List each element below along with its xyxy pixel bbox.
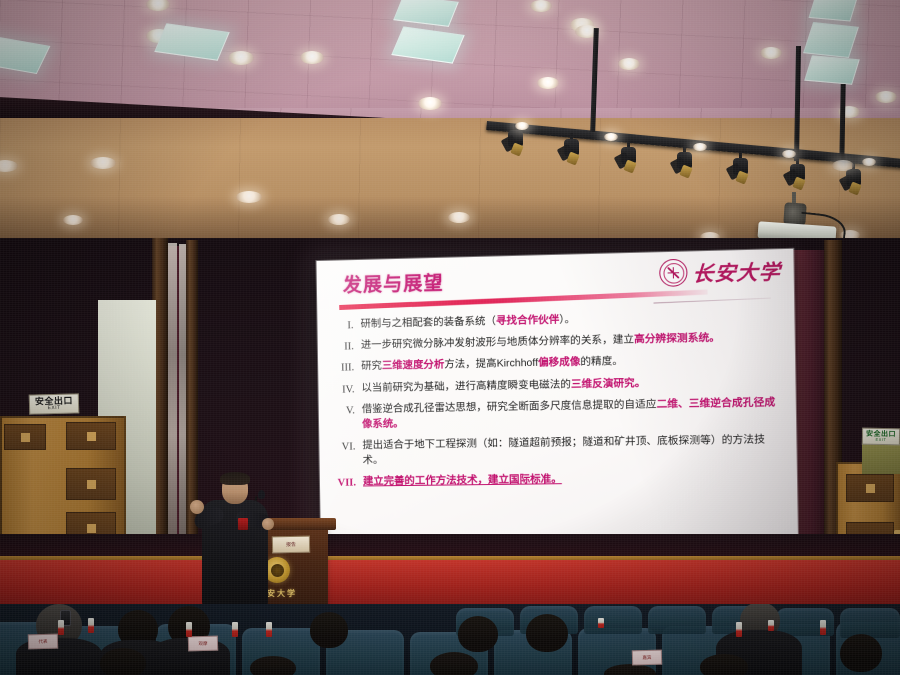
slide-bullet-item: V.借鉴逆合成孔径雷达思想，研究全断面多尺度信息提取的自适应二维、三维逆合成孔径… [335, 396, 782, 433]
name-card-text: 代表 [38, 638, 47, 644]
ceiling-downlight [875, 91, 897, 103]
slide-bullet-item: II.进一步研究微分脉冲发射波形与地质体分辨率的关系，建立高分辨探测系统。 [334, 331, 780, 355]
name-card-text: 观摩 [198, 640, 207, 646]
exit-sign-right-en: EXIT [875, 438, 886, 442]
wall-wash-light [832, 160, 854, 171]
door-panel [846, 474, 894, 502]
slide-bullet-text: 借鉴逆合成孔径雷达思想，研究全断面多尺度信息提取的自适应二维、三维逆合成孔径成像… [362, 396, 782, 433]
ceiling-downlight [537, 77, 559, 89]
slide-bullet-item: I.研制与之相配套的装备系统（寻找合作伙伴）。 [333, 309, 779, 334]
truss-lamp [862, 158, 876, 166]
ceiling-downlight [618, 58, 640, 70]
water-bottle [266, 622, 272, 637]
slide-bullet-item: IV.以当前研究为基础，进行高精度瞬变电磁法的三维反演研究。 [334, 374, 780, 397]
water-bottle [820, 620, 826, 635]
door-panel [66, 468, 116, 500]
audience-name-card: 嘉宾 [632, 650, 662, 666]
seat [840, 608, 900, 638]
slide-bullet-text: 研究三维速度分析方法，提高Kirchhoff偏移成像的精度。 [361, 352, 780, 375]
water-bottle [88, 618, 94, 633]
door-panel [66, 422, 116, 450]
wall-wash-light [328, 214, 350, 225]
wall-wash-light [448, 212, 470, 223]
stage-spotlight [843, 169, 865, 195]
glass-panel-strip [179, 244, 186, 562]
slide-bullet-number: VI. [335, 439, 356, 469]
stage-spotlight [561, 139, 583, 165]
slide-bullet-highlight: 高分辨探测系统。 [634, 333, 720, 346]
university-logo: 长安大学 [659, 255, 781, 288]
ceiling-downlight [530, 0, 552, 12]
slide-bullet-number: II. [334, 339, 354, 355]
slide-bullet-item: VII.建立完善的工作方法技术，建立国际标准。 [336, 470, 782, 491]
slide-title: 发展与展望 [343, 268, 444, 298]
projection-screen: 发展与展望 长安大学 I.研制与之相配套的装备系统（寻找合作伙伴）。II.进一步… [319, 261, 783, 581]
slide-bullet-number: I. [333, 318, 353, 334]
wall-wash-light [63, 215, 83, 225]
stage-spotlight [787, 164, 809, 190]
slide-bullet-plain: 研究 [361, 361, 382, 372]
audience-head [100, 648, 146, 675]
seat [648, 606, 706, 634]
ceiling-light-panel [804, 55, 860, 85]
water-bottle [598, 618, 604, 628]
ceiling-light-panel [808, 0, 857, 22]
slide-bullet-plain: 以当前研究为基础，进行高精度瞬变电磁法的 [361, 379, 571, 394]
slide-bullet-highlight: 三维反演研究。 [571, 378, 646, 391]
slide-bullet-highlight: 寻找合作伙伴 [496, 315, 559, 328]
audience-head [526, 614, 568, 652]
slide-bullet-number: IV. [334, 382, 354, 398]
slide-bullet-plain: 进一步研究微分脉冲发射波形与地质体分辨率的关系，建立 [361, 335, 634, 352]
truss-lamp [693, 143, 707, 151]
presenter-hair [220, 472, 250, 485]
slide-bullet-plain: 的精度。 [580, 357, 623, 369]
audience-head [250, 656, 296, 675]
exit-sign-left-en: EXIT [47, 406, 60, 411]
audience-area: 代表 观摩 嘉宾 [0, 604, 900, 675]
slide-bullet-text: 提出适合于地下工程探测（如：隧道超前预报；隧道和矿井顶、底板探测等）的方法技术。 [362, 433, 782, 469]
slide-bullet-number: VII. [336, 475, 356, 490]
title-underline-thin [654, 298, 771, 304]
slide-bullet-plain: 提出适合于地下工程探测（如：隧道超前预报；隧道和矿井顶、底板探测等）的方法技术。 [362, 434, 765, 466]
slide-bullet-highlight: 建立完善的工作方法技术，建立国际标准。 [363, 474, 562, 487]
slide-bullet-list: I.研制与之相配套的装备系统（寻找合作伙伴）。II.进一步研究微分脉冲发射波形与… [333, 309, 782, 497]
changan-university-emblem-icon [659, 259, 688, 287]
audience-head [430, 652, 478, 675]
podium-nameplate: 报告 [272, 536, 310, 554]
seat [584, 606, 642, 634]
conference-hall-photo: 安全出口 EXIT 安全出口 EXIT 发展与展望 长安大学 I.研制与之相配套… [0, 0, 900, 675]
slide-bullet-item: VI.提出适合于地下工程探测（如：隧道超前预报；隧道和矿井顶、底板探测等）的方法… [335, 433, 782, 469]
ceiling-downlight [228, 51, 254, 65]
slide-bullet-number: V. [335, 403, 356, 433]
water-bottle [736, 622, 742, 637]
stage-spotlight [674, 152, 696, 178]
exit-sign-right: 安全出口 EXIT [862, 428, 900, 446]
stage-spotlight [730, 158, 752, 184]
stage-spotlight [505, 130, 527, 156]
presenter-right-hand [262, 518, 274, 530]
wall-wash-light [236, 191, 262, 203]
ceiling-downlight [300, 51, 324, 64]
slide-bullet-highlight: 偏移成像 [538, 357, 581, 369]
slide-bullet-plain: ）。 [559, 314, 575, 326]
presenter-left-hand [190, 500, 204, 514]
wall-wash-light [90, 157, 116, 169]
audience-head [310, 612, 348, 648]
slide-bullet-plain: 借鉴逆合成孔径雷达思想，研究全断面多尺度信息提取的自适应 [362, 399, 657, 415]
slide-bullet-text: 进一步研究微分脉冲发射波形与地质体分辨率的关系，建立高分辨探测系统。 [361, 331, 780, 355]
slide-bullet-text: 研制与之相配套的装备系统（寻找合作伙伴）。 [360, 309, 779, 334]
door-panel [4, 424, 46, 450]
presentation-slide: 发展与展望 长安大学 I.研制与之相配套的装备系统（寻找合作伙伴）。II.进一步… [316, 249, 798, 581]
slide-bullet-text: 以当前研究为基础，进行高精度瞬变电磁法的三维反演研究。 [361, 374, 780, 397]
slide-bullet-plain: 研制与之相配套的装备系统（ [360, 316, 496, 330]
water-bottle [186, 622, 192, 637]
audience-name-card: 观摩 [188, 636, 218, 652]
university-logo-text: 长安大学 [692, 255, 782, 287]
water-bottle [58, 620, 64, 635]
water-bottle [768, 620, 774, 631]
slide-bullet-plain: 方法，提高Kirchhoff [444, 358, 538, 371]
truss-lamp [604, 133, 618, 141]
water-bottle [232, 622, 238, 637]
ceiling-downlight [418, 97, 442, 110]
exit-sign-left: 安全出口 EXIT [29, 393, 80, 414]
truss-lamp [782, 150, 796, 158]
name-card-text: 嘉宾 [642, 654, 651, 660]
audience-name-card: 代表 [28, 634, 58, 650]
slide-bullet-highlight: 三维速度分析 [382, 360, 445, 372]
audience-head [840, 634, 882, 672]
audience-head [700, 654, 748, 675]
truss-lamp [515, 122, 529, 130]
audience-head [458, 616, 498, 652]
slide-bullet-text: 建立完善的工作方法技术，建立国际标准。 [363, 470, 782, 490]
presenter-badge [238, 518, 248, 530]
glass-panel-strip [168, 243, 177, 563]
slide-bullet-number: III. [334, 361, 354, 377]
slide-bullet-item: III.研究三维速度分析方法，提高Kirchhoff偏移成像的精度。 [334, 352, 780, 376]
ceiling-downlight [760, 47, 782, 59]
ceiling-light-panel [803, 22, 859, 58]
stage-spotlight [618, 147, 640, 173]
